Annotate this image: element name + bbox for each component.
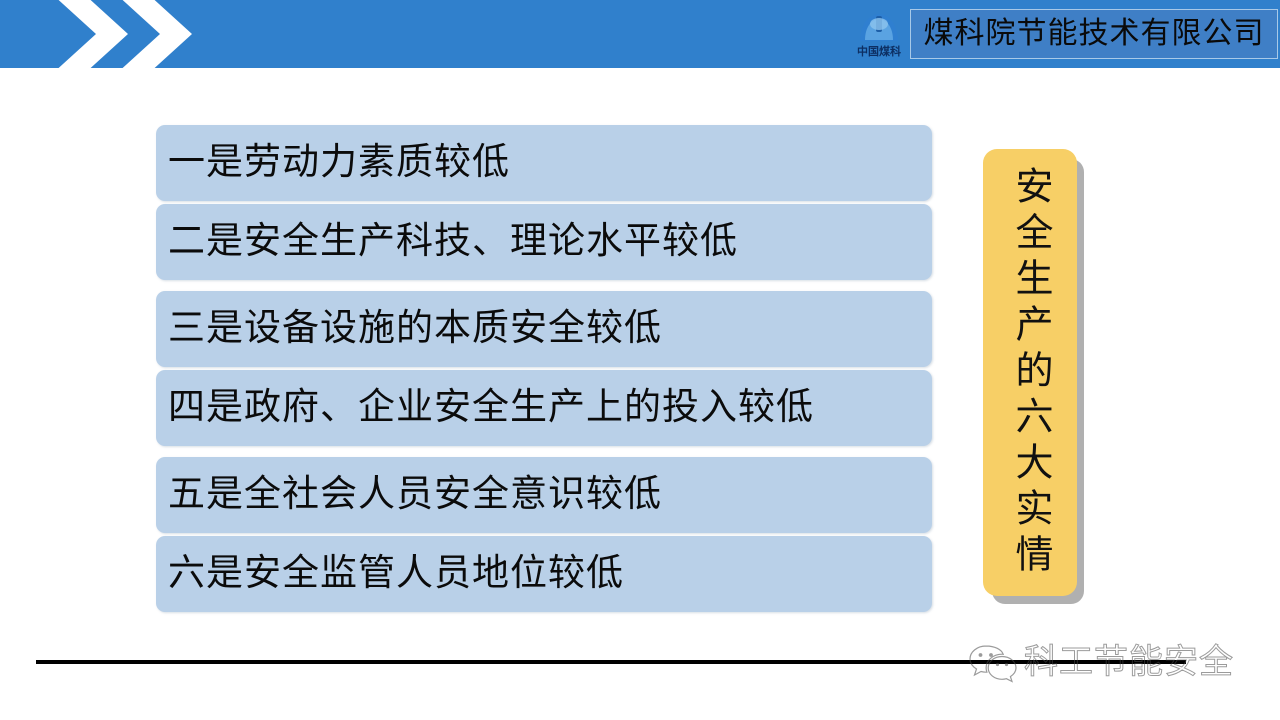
issue-group-2: 三是设备设施的本质安全较低 四是政府、企业安全生产上的投入较低 <box>156 291 932 446</box>
list-item-label: 三是设备设施的本质安全较低 <box>168 310 662 349</box>
brand-logo-caption: 中国煤科 <box>857 46 901 58</box>
issue-group-1: 一是劳动力素质较低 二是安全生产科技、理论水平较低 <box>156 125 932 280</box>
list-item[interactable]: 四是政府、企业安全生产上的投入较低 <box>156 370 932 446</box>
issue-group-3: 五是全社会人员安全意识较低 六是安全监管人员地位较低 <box>156 457 932 612</box>
company-title-box: 煤科院节能技术有限公司 <box>910 9 1278 59</box>
list-item[interactable]: 二是安全生产科技、理论水平较低 <box>156 204 932 280</box>
side-title-card: 安全生产的六大实情 <box>983 149 1077 596</box>
list-item-label: 五是全社会人员安全意识较低 <box>168 476 662 515</box>
footer-watermark: 科工节能安全 <box>968 632 1268 694</box>
china-coal-logo-icon <box>856 11 902 45</box>
list-item-label: 六是安全监管人员地位较低 <box>168 555 624 594</box>
wechat-icon <box>968 641 1018 685</box>
list-item[interactable]: 一是劳动力素质较低 <box>156 125 932 201</box>
chevron-right-icon-2 <box>112 0 198 68</box>
list-item[interactable]: 五是全社会人员安全意识较低 <box>156 457 932 533</box>
header-banner: 中国煤科 煤科院节能技术有限公司 <box>0 0 1280 68</box>
list-item[interactable]: 三是设备设施的本质安全较低 <box>156 291 932 367</box>
brand-logo: 中国煤科 <box>843 5 915 63</box>
list-item[interactable]: 六是安全监管人员地位较低 <box>156 536 932 612</box>
side-title-text: 安全生产的六大实情 <box>1011 166 1049 580</box>
list-item-label: 二是安全生产科技、理论水平较低 <box>168 223 738 262</box>
list-item-label: 四是政府、企业安全生产上的投入较低 <box>168 389 814 428</box>
list-item-label: 一是劳动力素质较低 <box>168 144 510 183</box>
issue-list: 一是劳动力素质较低 二是安全生产科技、理论水平较低 三是设备设施的本质安全较低 … <box>156 125 932 612</box>
watermark-label: 科工节能安全 <box>1024 646 1234 680</box>
company-title: 煤科院节能技术有限公司 <box>924 19 1265 49</box>
